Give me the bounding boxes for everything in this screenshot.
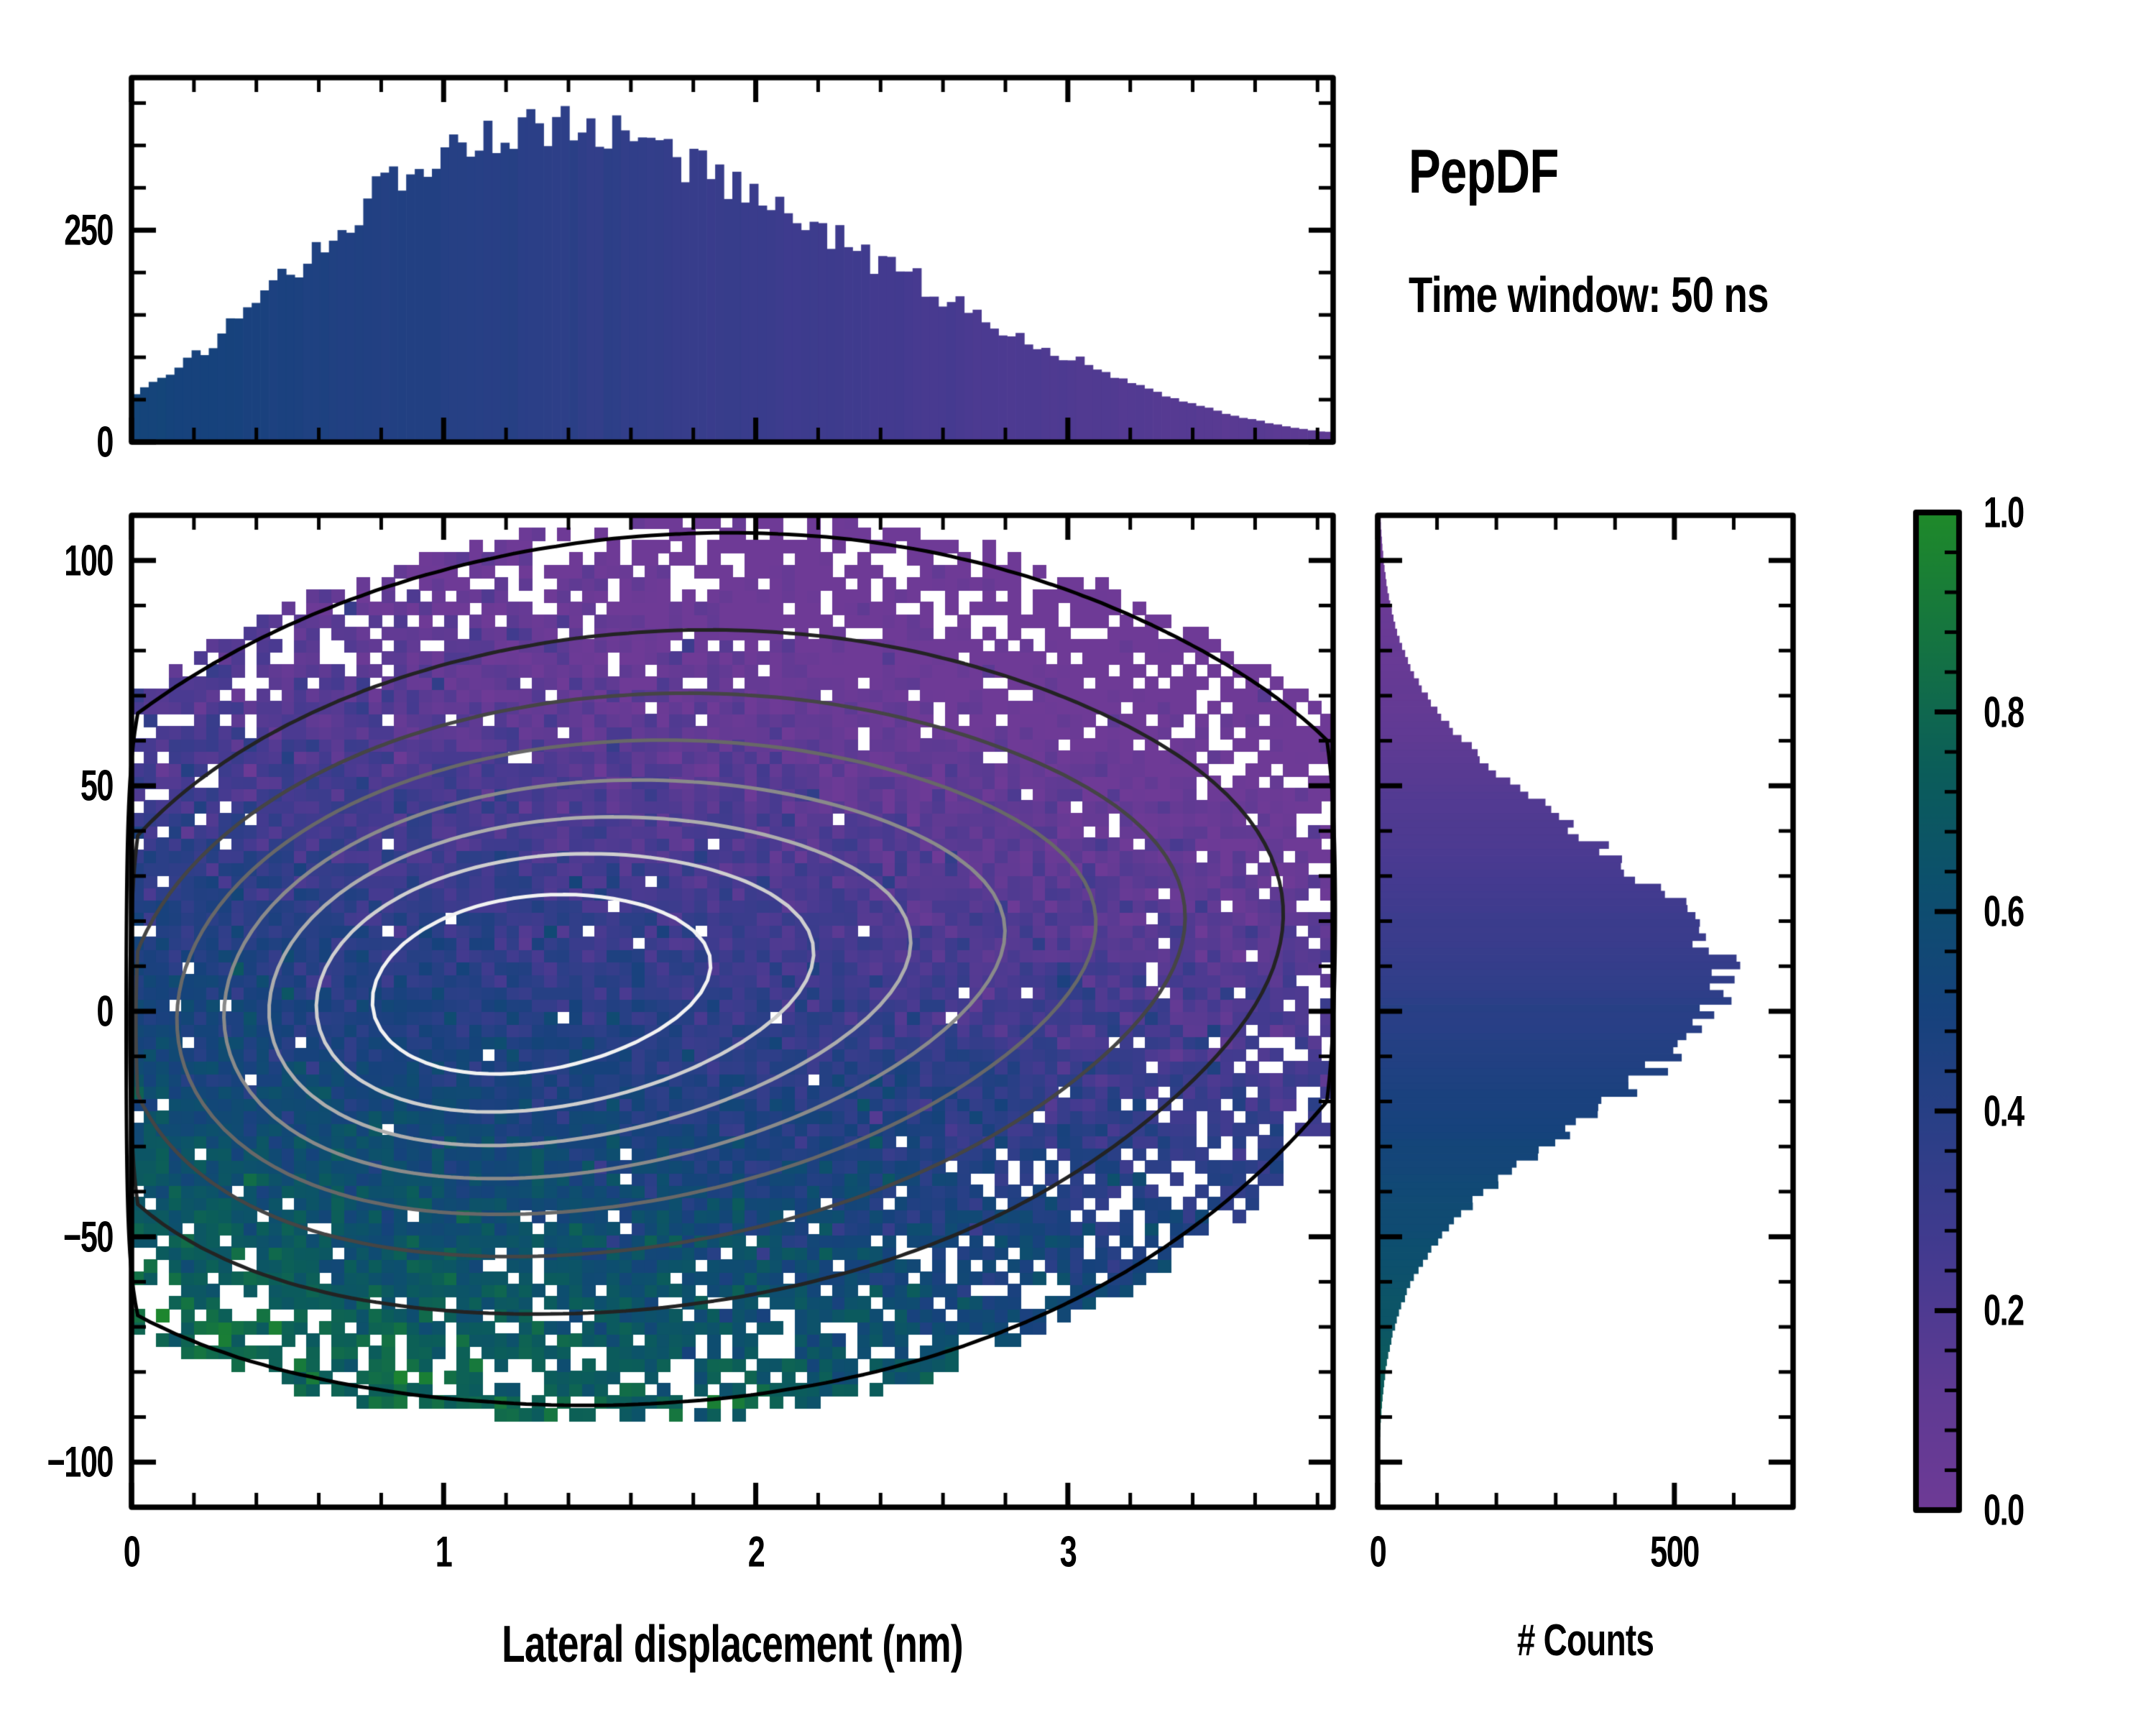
plot-subtitle: Time window: 50 ns (1409, 266, 1769, 323)
colorbar-tick-label-3: 0.6 (1984, 887, 2024, 937)
main-x-tick-label-2: 2 (747, 1527, 764, 1577)
top-marginal-y-tick-label-0: 0 (96, 418, 113, 467)
main-y-tick-label-4: 100 (64, 535, 113, 585)
colorbar-tick-label-1: 0.2 (1984, 1286, 2024, 1335)
colorbar-tick-label-0: 0.0 (1984, 1486, 2024, 1535)
main-y-tick-label-1: −50 (63, 1212, 113, 1261)
colorbar-tick-label-2: 0.4 (1984, 1086, 2024, 1136)
colorbar-tick-label-4: 0.8 (1984, 687, 2024, 737)
right-marginal-x-tick-label-0: 0 (1370, 1527, 1386, 1577)
main-y-tick-label-0: −100 (47, 1437, 113, 1487)
main-y-tick-label-3: 50 (80, 761, 113, 811)
right-marginal-x-axis-label: # Counts (1517, 1615, 1654, 1666)
right-marginal-x-tick-label-1: 500 (1650, 1527, 1699, 1577)
main-y-tick-label-2: 0 (96, 987, 113, 1036)
colorbar-label: Normalized Mean Time (2151, 772, 2156, 1251)
main-x-tick-label-1: 1 (436, 1527, 452, 1577)
joint-plot-canvas (0, 0, 2156, 1725)
main-x-axis-label: Lateral displacement (nm) (502, 1615, 963, 1674)
top-marginal-y-tick-label-1: 250 (64, 206, 113, 255)
colorbar-tick-label-5: 1.0 (1984, 488, 2024, 538)
main-x-tick-label-0: 0 (124, 1527, 140, 1577)
main-x-tick-label-3: 3 (1060, 1527, 1077, 1577)
plot-title: PepDF (1409, 137, 1559, 208)
figure-canvas: PepDF Time window: 50 ns Precession (deg… (0, 0, 2156, 1725)
